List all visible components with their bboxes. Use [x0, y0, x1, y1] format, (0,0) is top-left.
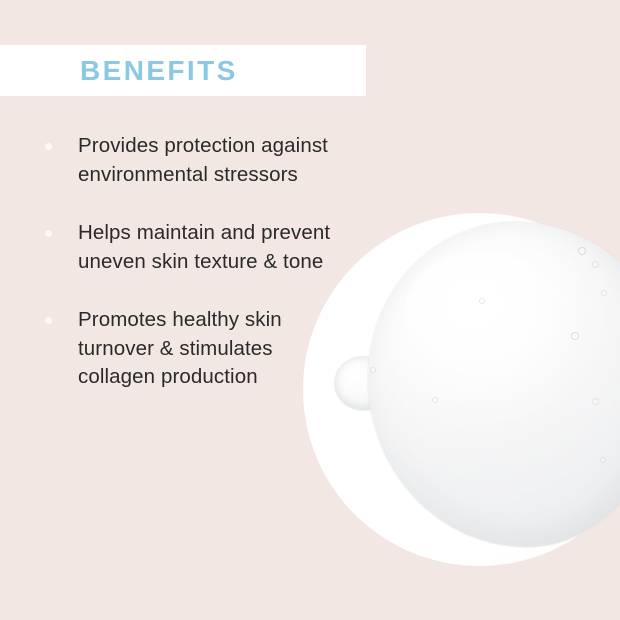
bubble-icon [592, 261, 599, 268]
serum-droplet-small-icon [335, 357, 390, 410]
bubble-icon [592, 398, 599, 405]
benefits-list: Provides protection against environmenta… [40, 132, 340, 392]
page-title: BENEFITS [80, 57, 238, 85]
bubble-icon [571, 332, 579, 340]
bubble-icon [600, 457, 606, 463]
bubble-icon [479, 298, 485, 304]
benefits-panel: BENEFITS Provides protection against env… [0, 0, 620, 620]
header-band: BENEFITS [0, 45, 366, 96]
benefit-text: Promotes healthy skin turnover & stimula… [78, 306, 340, 392]
bubble-icon [432, 397, 438, 403]
bullet-dot-icon [45, 317, 52, 324]
list-item: Provides protection against environmenta… [40, 132, 340, 189]
serum-droplet-large-icon [368, 222, 620, 547]
list-item: Promotes healthy skin turnover & stimula… [40, 306, 340, 392]
benefit-text: Provides protection against environmenta… [78, 132, 340, 189]
white-circle-backdrop [303, 213, 620, 566]
list-item: Helps maintain and prevent uneven skin t… [40, 219, 340, 276]
bullet-dot-icon [45, 230, 52, 237]
bubble-icon [578, 247, 586, 255]
bullet-dot-icon [45, 143, 52, 150]
bubble-icon [601, 290, 607, 296]
benefit-text: Helps maintain and prevent uneven skin t… [78, 219, 340, 276]
bubble-icon [370, 367, 376, 373]
